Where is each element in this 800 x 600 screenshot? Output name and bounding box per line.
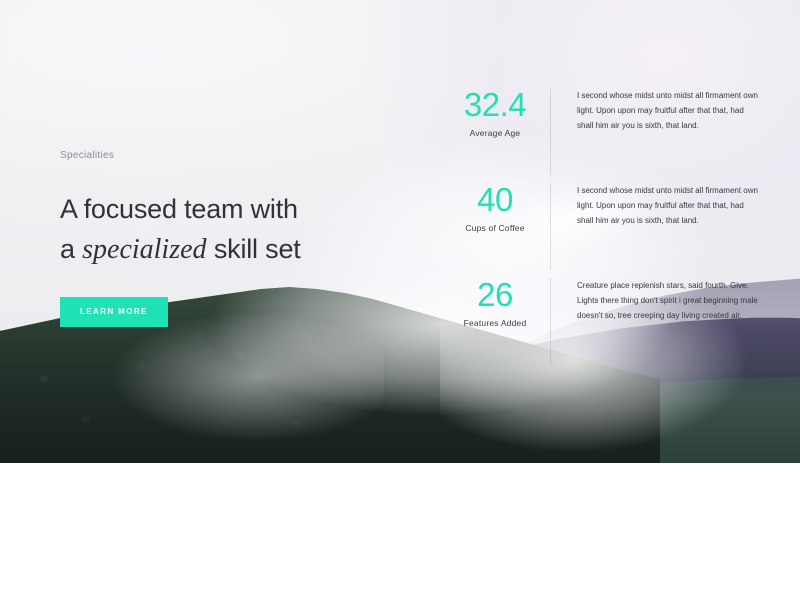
stat-value: 26: [440, 278, 550, 312]
section-eyebrow: Specialities: [60, 150, 400, 161]
stat-description: I second whose midst unto midst all firm…: [551, 84, 760, 133]
headline-line-2-start: a: [60, 234, 82, 264]
stat-value: 40: [440, 183, 550, 217]
stat-label: Cups of Coffee: [440, 223, 550, 233]
stat-figure: 26 Features Added: [440, 274, 550, 328]
stat-row: 40 Cups of Coffee I second whose midst u…: [440, 179, 760, 274]
stat-value: 32.4: [440, 88, 550, 122]
stat-figure: 32.4 Average Age: [440, 84, 550, 138]
stat-label: Average Age: [440, 128, 550, 138]
stat-figure: 40 Cups of Coffee: [440, 179, 550, 233]
stat-row: 26 Features Added Creature place repleni…: [440, 274, 760, 369]
stat-row: 32.4 Average Age I second whose midst un…: [440, 84, 760, 179]
learn-more-button[interactable]: LEARN MORE: [60, 297, 168, 327]
stats-column: 32.4 Average Age I second whose midst un…: [440, 84, 760, 369]
headline-line-2-end: skill set: [207, 234, 301, 264]
page-title: A focused team with a specialized skill …: [60, 189, 400, 270]
headline-emphasis-word: specialized: [82, 234, 206, 265]
fog-layer-d: [64, 306, 384, 463]
stat-description: Creature place replenish stars, said fou…: [551, 274, 760, 323]
stat-description: I second whose midst unto midst all firm…: [551, 179, 760, 228]
page-root: Specialities A focused team with a speci…: [0, 0, 800, 600]
headline-line-1: A focused team with: [60, 194, 298, 224]
stat-label: Features Added: [440, 318, 550, 328]
intro-column: Specialities A focused team with a speci…: [60, 150, 400, 327]
